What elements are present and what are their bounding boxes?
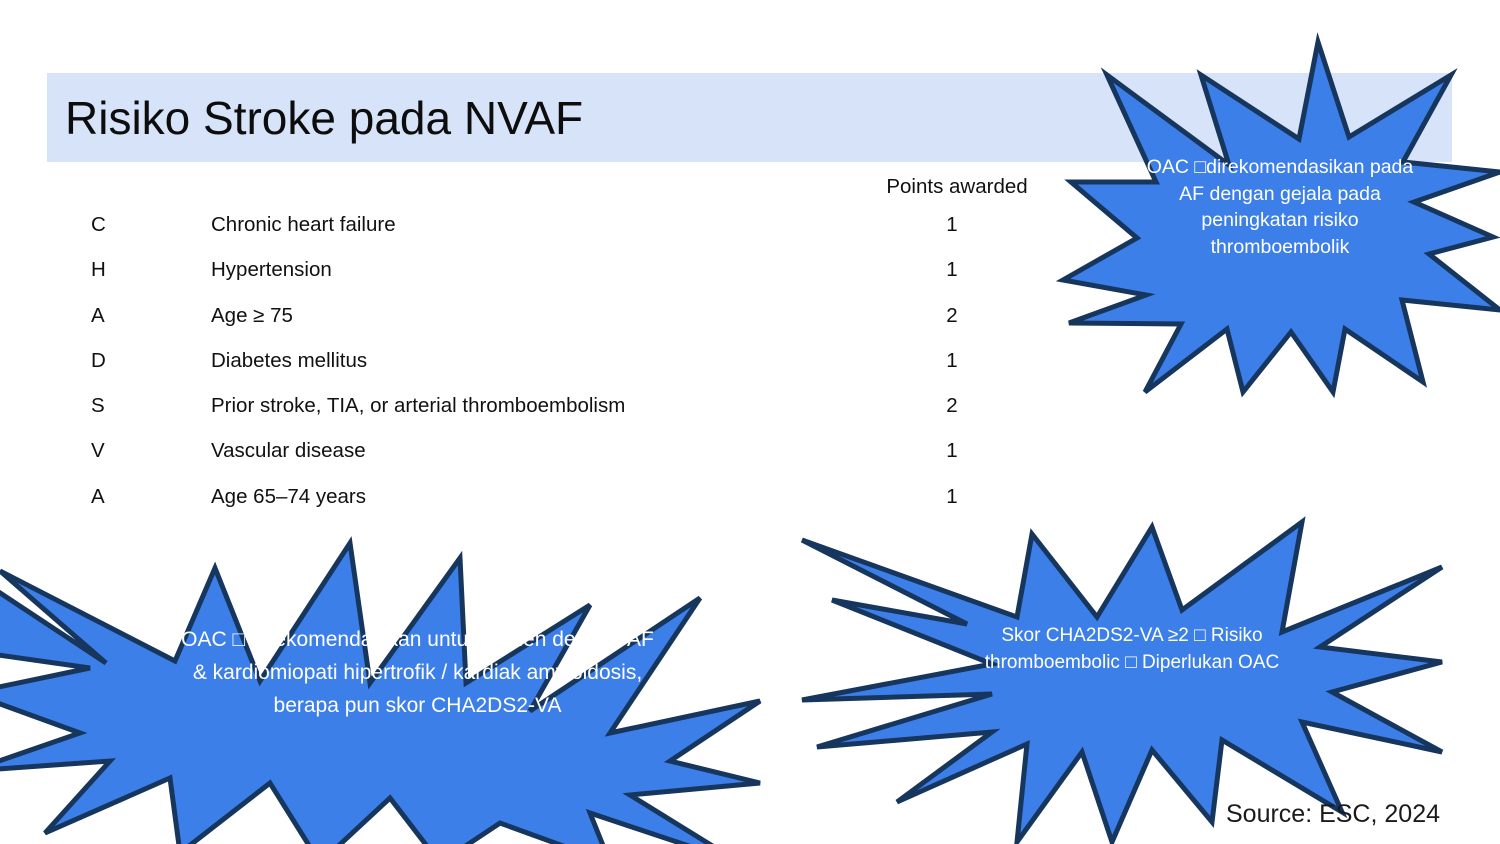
table-header-row: Points awarded xyxy=(0,175,1060,213)
starburst-shape-bottom-right xyxy=(742,522,1442,842)
row-description: Age 65–74 years xyxy=(211,485,366,509)
row-points: 2 xyxy=(917,304,987,328)
row-points: 1 xyxy=(917,213,987,237)
row-letter: S xyxy=(91,394,131,418)
row-description: Diabetes mellitus xyxy=(211,349,367,373)
callout-starburst-top-right: OAC □direkomendasikan pada AF dengan gej… xyxy=(1063,42,1500,392)
row-letter: D xyxy=(91,349,131,373)
points-awarded-header: Points awarded xyxy=(877,175,1037,199)
row-points: 1 xyxy=(917,349,987,373)
starburst-shape-bottom-left xyxy=(0,533,760,844)
table-row: S Prior stroke, TIA, or arterial thrombo… xyxy=(0,394,1060,439)
row-letter: A xyxy=(91,485,131,509)
row-description: Prior stroke, TIA, or arterial thromboem… xyxy=(211,394,625,418)
row-letter: C xyxy=(91,213,131,237)
row-points: 1 xyxy=(917,439,987,463)
row-points: 1 xyxy=(917,485,987,509)
row-letter: V xyxy=(91,439,131,463)
starburst-shape-top-right xyxy=(1063,42,1500,392)
table-row: C Chronic heart failure 1 xyxy=(0,213,1060,258)
row-description: Vascular disease xyxy=(211,439,366,463)
cha2ds2-va-score-table: Points awarded C Chronic heart failure 1… xyxy=(0,175,1060,530)
row-letter: H xyxy=(91,258,131,282)
table-row: H Hypertension 1 xyxy=(0,258,1060,303)
source-credit: Source: ESC, 2024 xyxy=(1226,800,1440,829)
row-description: Hypertension xyxy=(211,258,332,282)
row-points: 2 xyxy=(917,394,987,418)
callout-starburst-bottom-right: Skor CHA2DS2-VA ≥2 □ Risiko thromboembol… xyxy=(742,522,1442,842)
row-description: Chronic heart failure xyxy=(211,213,396,237)
row-letter: A xyxy=(91,304,131,328)
callout-starburst-bottom-left: OAC □ direkomendasikan untuk pasien deng… xyxy=(0,533,760,844)
page-title: Risiko Stroke pada NVAF xyxy=(65,90,583,146)
slide-canvas: Risiko Stroke pada NVAF Points awarded C… xyxy=(0,0,1500,844)
table-row: V Vascular disease 1 xyxy=(0,439,1060,484)
table-row: A Age ≥ 75 2 xyxy=(0,304,1060,349)
row-description: Age ≥ 75 xyxy=(211,304,293,328)
table-row: D Diabetes mellitus 1 xyxy=(0,349,1060,394)
row-points: 1 xyxy=(917,258,987,282)
